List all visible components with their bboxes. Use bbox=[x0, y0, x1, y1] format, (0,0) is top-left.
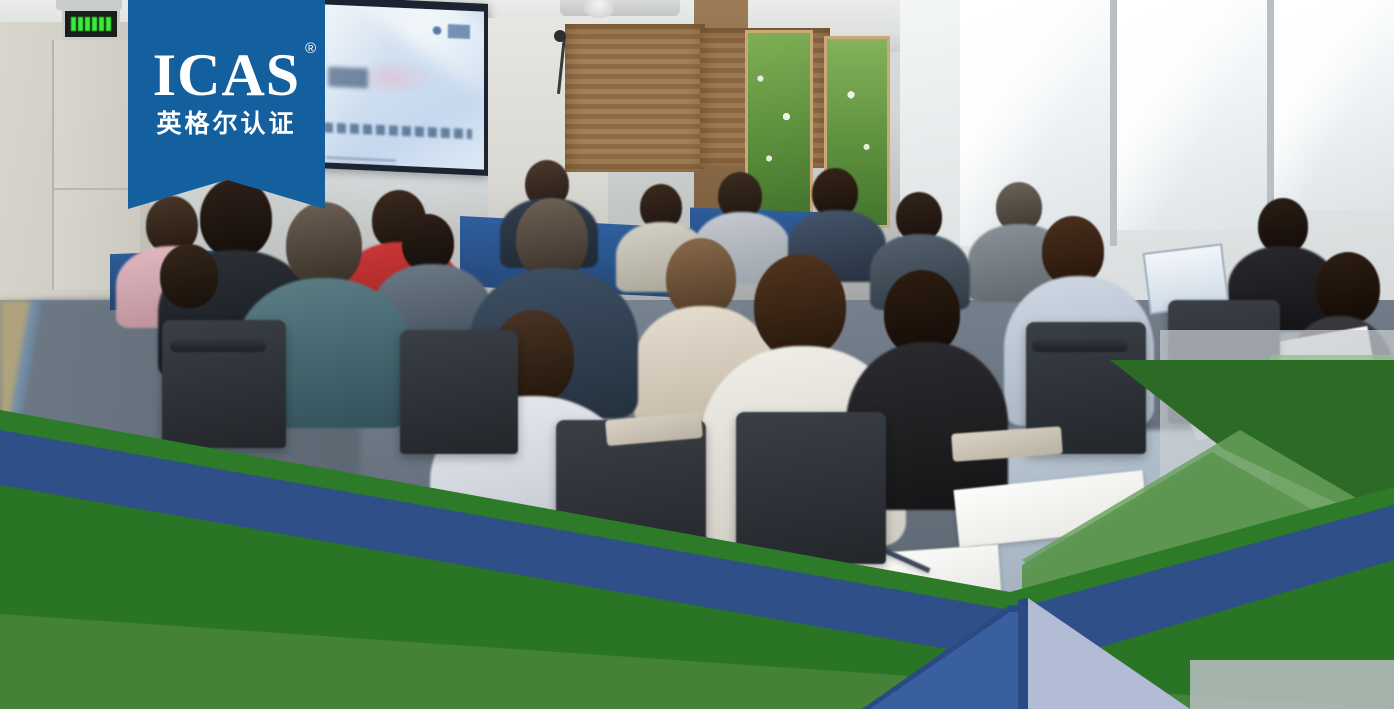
wall-trim-line bbox=[54, 188, 140, 190]
attendee-head bbox=[286, 202, 362, 288]
attendee-head bbox=[1316, 252, 1380, 324]
window-blinds-left bbox=[565, 24, 705, 172]
slide-headline bbox=[328, 67, 368, 89]
microphone-head bbox=[554, 30, 566, 42]
attendee-head bbox=[754, 254, 846, 358]
chair bbox=[736, 412, 886, 564]
chair bbox=[400, 330, 518, 454]
screen-light-streak bbox=[322, 4, 484, 119]
window-pane-3 bbox=[1274, 0, 1394, 210]
slide-subline bbox=[324, 122, 472, 139]
ceiling-vent bbox=[560, 0, 680, 16]
chair-arm bbox=[1032, 340, 1128, 352]
slide-logo bbox=[430, 23, 470, 39]
exit-sign bbox=[62, 8, 120, 40]
chair-arm bbox=[170, 340, 266, 352]
hero-banner: ICAS® 英格尔认证 bbox=[0, 0, 1394, 709]
window-pane-2 bbox=[1117, 0, 1274, 230]
projection-screen bbox=[322, 4, 484, 169]
ceiling-dome-light bbox=[584, 0, 614, 18]
icas-chinese-name: 英格尔认证 bbox=[156, 111, 296, 136]
icas-wordmark: ICAS® bbox=[153, 45, 300, 105]
registered-trademark-icon: ® bbox=[305, 41, 317, 56]
attendee-head bbox=[160, 244, 218, 308]
icas-logo-lockup: ICAS® 英格尔认证 bbox=[128, 0, 325, 180]
icas-logo-block[interactable]: ICAS® 英格尔认证 bbox=[128, 0, 325, 209]
